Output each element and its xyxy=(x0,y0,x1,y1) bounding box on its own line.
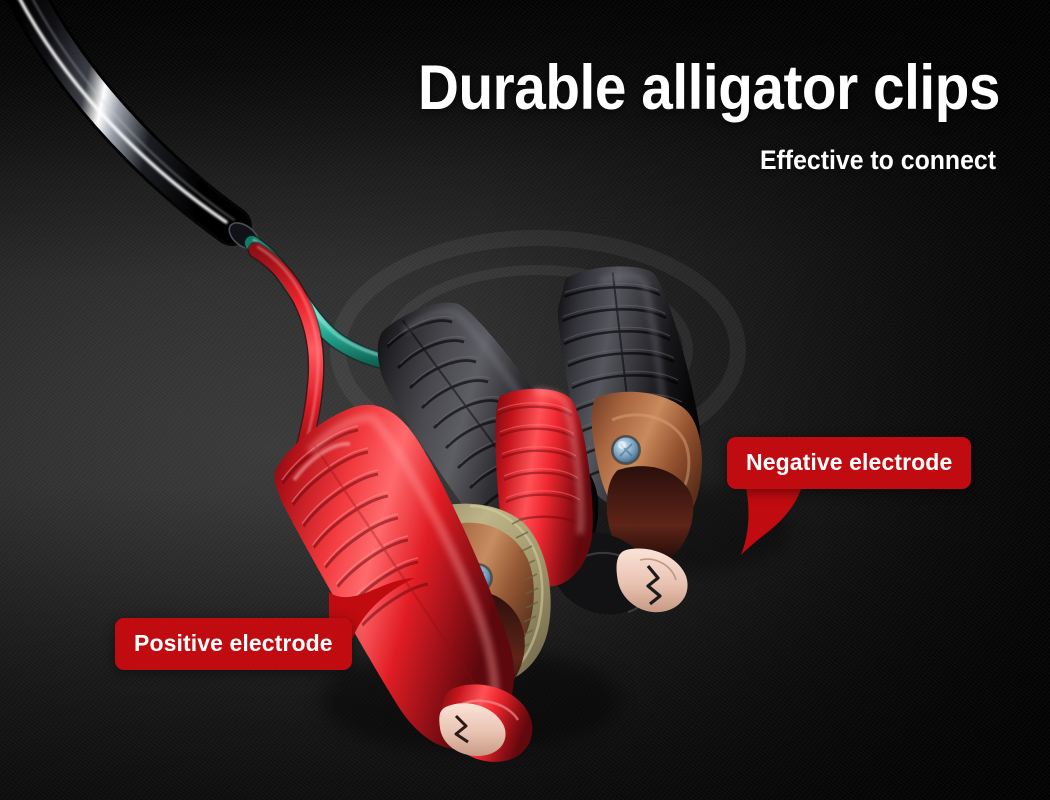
callout-positive-electrode[interactable]: Positive electrode xyxy=(115,618,352,670)
product-banner: Durable alligator clips Effective to con… xyxy=(0,0,1050,800)
callout-negative-electrode[interactable]: Negative electrode xyxy=(727,437,971,489)
page-title: Durable alligator clips xyxy=(100,57,1000,120)
callout-positive-bubble: Positive electrode xyxy=(115,618,352,670)
callout-positive-label: Positive electrode xyxy=(134,630,333,656)
callout-negative-label: Negative electrode xyxy=(746,449,952,475)
page-subtitle: Effective to connect xyxy=(80,147,996,174)
callout-negative-bubble: Negative electrode xyxy=(727,437,971,489)
